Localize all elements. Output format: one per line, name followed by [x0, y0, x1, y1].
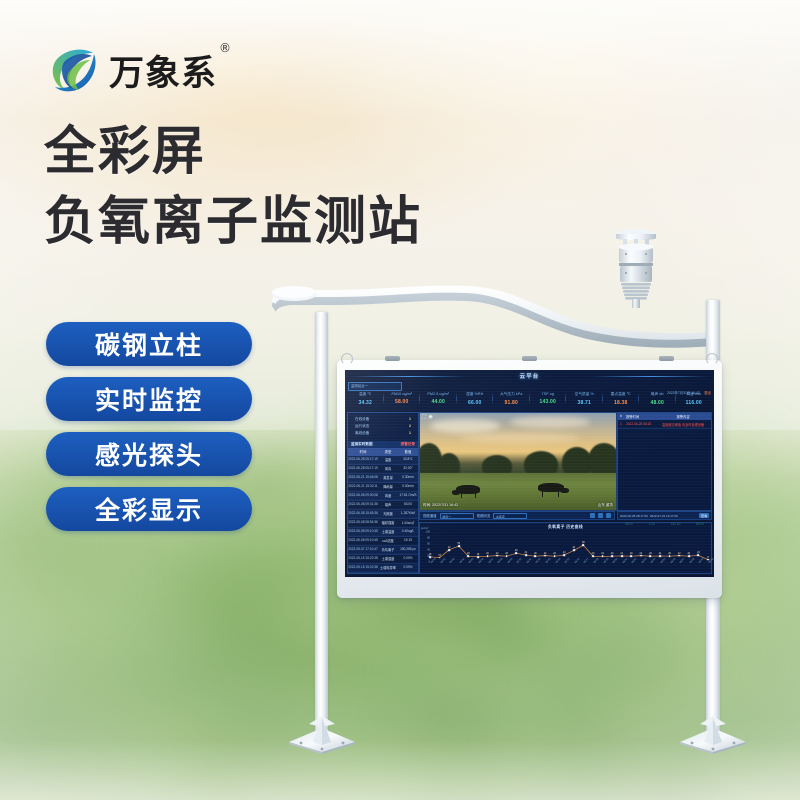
- metric-label: 露点温度 ℃: [603, 392, 640, 397]
- metric-value: 116.00: [676, 400, 713, 406]
- camera-cow-right-leg-2: [558, 491, 559, 497]
- chart-data-label: 20: [505, 552, 508, 555]
- alarm-table-body: 12022-06-28 08:15温度超过阈值 请及时处理设备: [618, 420, 711, 429]
- table-cell: 土壤湿度: [378, 555, 398, 563]
- metric-value: 143.00: [530, 399, 567, 405]
- table-cell: 2022-06-08 09:10:45: [348, 528, 378, 536]
- device-stat-3: 离线设备1: [351, 430, 415, 437]
- chart-data-label: 42: [448, 546, 451, 549]
- chart-x-axis: 08-0108-0208-0308-0408-0508-0608-0708-08…: [430, 562, 708, 573]
- brand-logo: 万象系 ®: [48, 44, 217, 96]
- chart-data-point: [602, 556, 604, 558]
- table-cell: 2022-06-21 15:46:08: [348, 474, 378, 482]
- alarm-query-button[interactable]: 查询: [699, 513, 709, 519]
- chart-data-point: [630, 555, 632, 557]
- chart-data-point: [477, 556, 479, 558]
- chart-data-point: [621, 555, 623, 557]
- chart-data-label: 21: [659, 552, 662, 555]
- chart-data-point: [592, 555, 594, 557]
- headline: 全彩屏 负氧离子监测站: [44, 122, 514, 253]
- registered-mark: ®: [219, 41, 232, 55]
- data-table-body: 2022-06-28 05:17:19温度33.8℃2022-06-28 05:…: [348, 456, 418, 573]
- chart-data-label: 22: [678, 551, 681, 554]
- chart-data-label: 15: [438, 553, 441, 556]
- chart-data-label: 20: [687, 552, 690, 555]
- table-cell: 蒸发量: [378, 474, 398, 482]
- table-cell: 1,287Klx/f: [398, 510, 418, 518]
- metric-value: 66.00: [457, 400, 494, 406]
- chart-data-label: 24: [525, 551, 528, 554]
- feature-pill-1[interactable]: 碳钢立柱: [46, 322, 252, 366]
- chart-data-point: [487, 555, 489, 557]
- chart-data-point: [506, 555, 508, 557]
- table-row[interactable]: 2022-06-08 09:30:08风速17.81 Om/S: [348, 492, 418, 501]
- chart-data-label: 58: [582, 541, 585, 544]
- metric-9: 噪声 db48.00: [639, 392, 676, 406]
- alarm-column-header: 报警时间: [626, 414, 657, 419]
- chart-data-point: [659, 555, 661, 557]
- metric-value: 91.80: [493, 400, 530, 406]
- headline-line-1: 全彩屏: [44, 122, 514, 182]
- table-cell: 辐射强度: [378, 519, 398, 527]
- camera-tree-6: [588, 443, 617, 477]
- metric-3: PM2.5 ug/m³44.00: [420, 392, 457, 406]
- feature-pill-label: 感光探头: [95, 436, 203, 472]
- camera-location: 山东 潍坊: [598, 503, 613, 508]
- table-row[interactable]: 2022-06-08 08:54:56辐射强度1.00w/㎡: [348, 519, 418, 528]
- metric-label: 空气质量 %: [566, 392, 603, 397]
- chart-data-point: [525, 554, 527, 556]
- metric-label: 噪声 db: [639, 392, 676, 397]
- metric-label: 大气压力 kPa: [493, 392, 530, 397]
- table-cell: 风速: [378, 492, 398, 500]
- chart-data-label: 40: [572, 546, 575, 549]
- left-data-panel: 在线设备1运行状态2离线设备1 监测实时数据 报警记录 时间类型数值 2022-…: [347, 412, 419, 574]
- chart-data-label: 22: [496, 551, 499, 554]
- table-cell: 2022-05-15 15:22:38: [348, 564, 378, 572]
- camera-stream-label: 视频码流: [477, 513, 491, 518]
- device-stat-label: 离线设备: [355, 430, 369, 437]
- table-cell: 17.81 Om/S: [398, 492, 418, 500]
- metric-7: 空气质量 %38.71: [566, 392, 603, 406]
- chart-data-label: 20: [611, 552, 614, 555]
- table-row[interactable]: 2022-06-21 15:46:08蒸发量0.30mm: [348, 474, 418, 483]
- alarm-column-header: 报警内容: [657, 414, 709, 419]
- screen-content: 云平台 监测站点一 2022年7月31日 16:42 退出 温度 ℃34.32P…: [345, 370, 714, 577]
- device-stat-value: 1: [409, 416, 411, 423]
- table-cell: 19.15: [398, 537, 418, 545]
- camera-grid-icon[interactable]: [590, 513, 595, 518]
- chart-data-label: 20: [649, 552, 652, 555]
- alarm-cell: 温度超过阈值 请及时处理设备: [657, 422, 709, 427]
- chart-data-point: [650, 555, 652, 557]
- table-cell: co2浓度: [378, 537, 398, 545]
- table-cell: 0.00%: [398, 564, 418, 572]
- bezel-tab-2: [522, 356, 537, 361]
- chart-data-label: 22: [640, 551, 643, 554]
- table-row[interactable]: 2022-06-08 09:10:45土壤温度0.40ug/L: [348, 528, 418, 537]
- feature-pill-4[interactable]: 全彩显示: [46, 487, 252, 531]
- alarm-table-header: #报警时间报警内容: [618, 413, 711, 420]
- metric-label: 风速 m/s: [676, 392, 713, 397]
- table-cell: 土壤电导率: [378, 564, 398, 572]
- table-row[interactable]: 2022-05-15 15:22:38土壤湿度0.00%: [348, 555, 418, 564]
- table-row[interactable]: 2022-06-08 15:45:36光照度1,287Klx/f: [348, 510, 418, 519]
- metric-value: 18.38: [603, 400, 640, 406]
- table-cell: 温度: [378, 456, 398, 464]
- table-cell: 2022-06-08 09:10:45: [348, 537, 378, 545]
- camera-cloud-3: [460, 433, 580, 443]
- feature-pill-label: 全彩显示: [95, 491, 203, 527]
- device-stat-2: 运行状态2: [351, 423, 415, 430]
- table-row[interactable]: 2022-06-08 09:10:45co2浓度19.15: [348, 537, 418, 546]
- camera-channel-select[interactable]: 通道一: [440, 513, 474, 519]
- chart-data-point: [611, 555, 613, 557]
- base-plate-right: [676, 712, 750, 754]
- chart-data-point: [688, 555, 690, 557]
- data-table-column-header: 类型: [378, 448, 398, 456]
- chart-data-label: 20: [534, 552, 537, 555]
- station-select-value: 监测站点一: [349, 383, 401, 390]
- table-cell: 0.00mm: [398, 483, 418, 491]
- chart-data-label: 30: [515, 549, 518, 552]
- table-cell: 2022-06-08 09:31:36: [348, 501, 378, 509]
- table-cell: 2022-06-08 09:30:08: [348, 492, 378, 500]
- metric-label: 湿度 %RH: [457, 392, 494, 397]
- feature-pill-list: 碳钢立柱实时监控感光探头全彩显示: [46, 322, 252, 531]
- chart-data-point: [582, 544, 584, 546]
- table-cell: 0.40ug/L: [398, 528, 418, 536]
- bezel-hook-right: [706, 353, 718, 365]
- camera-cow-left-head: [452, 490, 460, 495]
- bezel-tab-3: [659, 356, 674, 361]
- headline-line-2: 负氧离子监测站: [44, 192, 514, 252]
- device-stat-label: 运行状态: [355, 423, 369, 430]
- data-table-heading: 监测实时数据 报警记录: [348, 441, 418, 448]
- table-cell: 32.00°: [398, 465, 418, 473]
- table-row[interactable]: 2022-06-28 05:17:19温度33.8℃: [348, 456, 418, 465]
- table-cell: 风向: [378, 465, 398, 473]
- metric-8: 露点温度 ℃18.38: [603, 392, 640, 406]
- alarm-record-link[interactable]: 报警记录: [401, 442, 415, 447]
- metric-value: 58.00: [384, 399, 421, 405]
- chart-data-point: [544, 555, 546, 557]
- table-row[interactable]: 2022-05-07 17:10:47负氧离子150,285 pc: [348, 546, 418, 555]
- camera-settings-icon[interactable]: [606, 513, 611, 518]
- station-select[interactable]: 监测站点一: [348, 382, 402, 391]
- feature-pill-3[interactable]: 感光探头: [46, 432, 252, 476]
- table-cell: 土壤温度: [378, 528, 398, 536]
- ultrasonic-weather-sensor-icon: [608, 226, 664, 308]
- chart-data-label: 21: [620, 552, 623, 555]
- table-cell: 降雨量: [378, 483, 398, 491]
- metric-2: PM10 ug/m³58.00: [384, 392, 421, 406]
- metric-value: 34.32: [347, 400, 384, 406]
- screen-title: 云平台: [345, 372, 714, 380]
- table-cell: 2022-06-21 15:32:11: [348, 483, 378, 491]
- chart-data-point: [698, 554, 700, 556]
- chart-data-label: 20: [467, 552, 470, 555]
- table-cell: 2022-05-15 15:22:38: [348, 555, 378, 563]
- table-cell: 2022-06-28 05:17:19: [348, 465, 378, 473]
- camera-cow-right-leg-1: [542, 491, 543, 497]
- metric-value: 48.00: [639, 400, 676, 406]
- metric-value: 38.71: [566, 400, 603, 406]
- camera-stream-select[interactable]: 主码流: [493, 513, 527, 519]
- camera-feed[interactable]: ⛶ ◉ 时间: 2022/7/31 16:42 山东 潍坊: [419, 412, 617, 511]
- metric-1: 温度 ℃34.32: [347, 392, 384, 406]
- brand-name: 万象系 ®: [109, 45, 217, 96]
- data-table-column-header: 时间: [348, 448, 378, 456]
- history-chart-panel: 负氧离子 历史曲线 pc/cm³ 020406080100 1815425520…: [419, 522, 712, 574]
- chart-data-point: [535, 555, 537, 557]
- table-row[interactable]: 2022-06-28 05:17:19风向32.00°: [348, 465, 418, 474]
- metric-10: 风速 m/s116.00: [676, 392, 713, 406]
- chart-data-point: [467, 555, 469, 557]
- metric-label: PM2.5 ug/m³: [420, 392, 457, 396]
- chart-data-point: [496, 555, 498, 557]
- camera-cow-right-head: [560, 488, 569, 493]
- table-cell: 光照度: [378, 510, 398, 518]
- chart-data-label: 20: [630, 552, 633, 555]
- metric-value: 44.00: [420, 399, 457, 405]
- metric-label: PM10 ug/m³: [384, 392, 421, 396]
- chart-title: 负氧离子 历史曲线: [420, 523, 711, 530]
- device-stat-value: 2: [409, 423, 411, 430]
- metric-label: 温度 ℃: [347, 392, 384, 397]
- brand-name-text: 万象系: [109, 54, 217, 94]
- chart-data-point: [429, 556, 431, 558]
- chart-data-point: [515, 552, 517, 554]
- table-cell: 1.00w/㎡: [398, 519, 418, 527]
- chart-data-point: [669, 555, 671, 557]
- data-table-columns: 时间类型数值: [348, 448, 418, 456]
- data-table-title: 监测实时数据: [351, 442, 373, 447]
- feature-pill-label: 实时监控: [95, 381, 203, 417]
- product-marketing-image: 万象系 ® 全彩屏 负氧离子监测站 碳钢立柱实时监控感光探头全彩显示: [0, 0, 800, 800]
- camera-cow-left-leg-2: [475, 493, 476, 498]
- camera-timestamp: 时间: 2022/7/31 16:42: [423, 503, 458, 508]
- camera-cloud-2: [510, 416, 590, 428]
- base-plate-left: [285, 712, 359, 754]
- device-stats: 在线设备1运行状态2离线设备1: [348, 413, 418, 439]
- data-table-column-header: 数值: [398, 448, 418, 456]
- alarm-query-bar[interactable]: 2022-06-28 08:17:00 2022-07-31 16:17:00 …: [617, 511, 712, 520]
- fullscreen-icon[interactable]: ⛶: [422, 415, 426, 420]
- table-cell: 负氧离子: [378, 546, 398, 554]
- chart-data-point: [439, 557, 441, 559]
- chart-data-label: 20: [486, 552, 489, 555]
- chart-data-label: 18: [429, 553, 432, 556]
- bezel-tab-1: [385, 356, 400, 361]
- metric-label: TSP ug: [530, 392, 567, 396]
- camera-channel-label: 视频通道: [423, 513, 437, 518]
- chart-data-point: [448, 549, 450, 551]
- chart-data-label: 20: [668, 552, 671, 555]
- table-cell: 噪声: [378, 501, 398, 509]
- table-row[interactable]: 2022-05-15 15:22:38土壤电导率0.00%: [348, 564, 418, 573]
- metric-4: 湿度 %RH66.00: [457, 392, 494, 406]
- camera-toolbar[interactable]: 视频通道 通道一 视频码流 主码流: [419, 511, 615, 520]
- chart-data-label: 20: [553, 552, 556, 555]
- snapshot-icon[interactable]: ◉: [429, 415, 433, 420]
- device-stat-value: 1: [409, 430, 411, 437]
- chart-data-point: [458, 545, 460, 547]
- table-cell: 150,285 pc: [398, 546, 418, 554]
- chart-data-label: 19: [601, 552, 604, 555]
- table-cell: 33.8℃: [398, 456, 418, 464]
- led-display-panel: 云平台 监测站点一 2022年7月31日 16:42 退出 温度 ℃34.32P…: [337, 360, 722, 598]
- table-cell: 0.00%: [398, 555, 418, 563]
- table-cell: 2022-06-08 15:45:36: [348, 510, 378, 518]
- device-stat-label: 在线设备: [355, 416, 369, 423]
- metric-5: 大气压力 kPa91.80: [493, 392, 530, 406]
- alarm-cell: 2022-06-28 08:15: [626, 422, 657, 427]
- table-cell: 2022-05-07 17:10:47: [348, 546, 378, 554]
- chart-data-point: [554, 555, 556, 557]
- table-cell: 2022-06-08 08:54:56: [348, 519, 378, 527]
- chart-data-label: 20: [592, 552, 595, 555]
- feature-pill-label: 碳钢立柱: [95, 326, 203, 362]
- metric-6: TSP ug143.00: [530, 392, 567, 406]
- table-cell: 0.30mm: [398, 474, 418, 482]
- device-stat-1: 在线设备1: [351, 416, 415, 423]
- alarm-end-date[interactable]: 2022-07-31 16:17:00: [650, 514, 678, 518]
- chart-data-point: [573, 549, 575, 551]
- camera-record-icon[interactable]: [598, 513, 603, 518]
- table-cell: 53.00: [398, 501, 418, 509]
- chart-data-point: [640, 555, 642, 557]
- chart-data-label: 8: [707, 555, 708, 558]
- chart-data-label: 23: [697, 551, 700, 554]
- alarm-panel: #报警时间报警内容 12022-06-28 08:15温度超过阈值 请及时处理设…: [617, 412, 712, 511]
- camera-cloud-1: [430, 419, 500, 433]
- alarm-start-date[interactable]: 2022-06-28 08:17:00: [620, 514, 648, 518]
- camera-overlay-icons[interactable]: ⛶ ◉: [422, 415, 433, 420]
- support-post-left: [315, 312, 328, 732]
- table-row[interactable]: 2022-06-08 09:31:36噪声53.00: [348, 501, 418, 510]
- alarm-row[interactable]: 12022-06-28 08:15温度超过阈值 请及时处理设备: [618, 420, 711, 429]
- chart-data-point: [678, 555, 680, 557]
- chart-data-label: 24: [563, 551, 566, 554]
- bezel-hook-left: [341, 353, 353, 365]
- metrics-bar: 温度 ℃34.32PM10 ug/m³58.00PM2.5 ug/m³44.00…: [347, 392, 712, 406]
- camera-cow-left-leg-1: [461, 493, 462, 498]
- chart-data-label: 18: [477, 553, 480, 556]
- table-cell: 2022-06-28 05:17:19: [348, 456, 378, 464]
- chart-data-point: [563, 554, 565, 556]
- feature-pill-2[interactable]: 实时监控: [46, 377, 252, 421]
- sphere-swirl-logo-icon: [48, 44, 100, 96]
- chart-data-label: 55: [457, 542, 460, 545]
- chart-data-label: 22: [544, 551, 547, 554]
- table-row[interactable]: 2022-06-21 15:32:11降雨量0.00mm: [348, 483, 418, 492]
